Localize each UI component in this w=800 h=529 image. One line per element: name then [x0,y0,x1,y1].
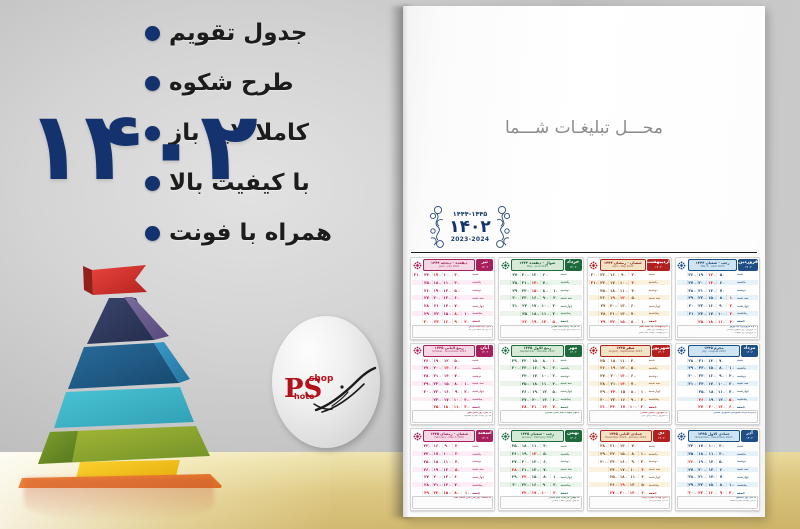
day-cell[interactable]: ۱۰۱۱ [540,490,550,495]
day-cell[interactable]: ۱۲۰ [550,358,560,363]
day-cell[interactable]: ۱۸۷ [530,381,540,386]
day-cell[interactable]: ۲۱۱۳ [432,373,442,378]
day-cell[interactable]: ۱۱۳۰ [540,381,550,386]
day-cell[interactable]: ۲۷۱ [422,474,432,479]
day-cell[interactable]: ۲۱۵ [726,373,736,378]
day-cell[interactable]: ۲۱۱۶ [697,474,707,479]
day-cell[interactable]: ۱۹۱۱ [432,358,442,363]
day-cell[interactable]: ۲۵۲ [520,311,530,316]
day-cell[interactable]: ۲۴۱۹ [687,443,697,448]
day-cell[interactable]: ۱۳۱۷ [442,474,452,479]
day-cell[interactable]: ۲۵۲۶ [510,443,520,448]
day-cell[interactable]: ۲۴۷ [697,381,707,386]
day-cell[interactable]: ۶۷ [716,280,726,285]
day-cell[interactable]: ۲۱۲۸ [520,280,530,285]
day-cell[interactable]: ۲۷۲۸ [687,280,697,285]
day-cell[interactable]: ۲۵۲۰ [687,451,697,456]
day-cell[interactable]: ۱۱۲۱ [442,280,452,285]
day-cell[interactable]: ۲۷۱۳ [598,373,608,378]
day-cell[interactable]: ۲۶۲۴ [608,482,618,487]
day-cell[interactable]: ۳۰۱۹ [510,365,520,370]
day-cell[interactable]: ۱۹۲ [706,397,716,402]
day-cell[interactable]: ۱۳۱۷ [618,303,628,308]
day-cell[interactable]: ۱۰۲ [452,397,462,402]
day-cell[interactable]: ۱۲۲۵ [716,397,726,402]
day-cell[interactable]: ۱۱۱۲ [530,443,540,448]
day-cell[interactable]: ۲۰۲۷ [520,272,530,277]
day-cell[interactable]: ۴۲۳ [550,381,560,386]
day-cell[interactable]: ۳۴ [726,311,736,316]
day-cell[interactable]: ۸۲۷ [540,358,550,363]
day-cell[interactable]: ۲۲۷ [726,490,736,495]
day-cell[interactable]: ۸۶ [628,451,638,456]
day-cell[interactable]: ۲۷۱۹ [422,365,432,370]
day-cell[interactable]: ۲۷۲۲ [687,467,697,472]
day-cell[interactable]: ۴۲۶ [461,404,471,409]
day-cell[interactable]: ۱۶۸ [442,389,452,394]
day-cell[interactable]: ۳۰۱۳ [687,373,697,378]
day-cell[interactable]: ۱۱۴ [726,365,736,370]
day-cell[interactable]: ۲۰۱۵ [697,467,707,472]
day-cell[interactable]: ۲۱۸ [638,397,648,402]
day-cell[interactable]: ۲۴۴ [422,272,432,277]
day-cell[interactable]: ۸۱۵ [540,288,550,293]
day-cell[interactable]: ۳۰۴ [589,272,599,277]
day-cell[interactable]: ۱۷۱۸ [530,490,540,495]
day-cell[interactable]: ۲۳۲۴ [520,482,530,487]
day-cell[interactable]: ۱۸ [550,288,560,293]
month-block-3[interactable]: خرداد۱۴۰۲شوال - ذیقعده ۱۴۴۴May - June 20… [498,257,583,340]
day-cell[interactable]: ۱۷۱۸ [706,311,716,316]
day-cell[interactable]: ۱۲ [550,474,560,479]
day-cell[interactable]: ۳۱۱۴ [687,381,697,386]
day-cell[interactable]: ۱۰۱۴ [442,451,452,456]
day-cell[interactable]: ۸۱۸ [452,311,462,316]
day-cell[interactable]: ۱۲۴ [442,358,452,363]
day-cell[interactable]: ۱۹۱۴ [697,459,707,464]
day-cell[interactable]: ۵۶ [716,272,726,277]
day-cell[interactable]: ۱۴۳ [540,404,550,409]
day-cell[interactable]: ۲۳ [550,482,560,487]
day-cell[interactable]: ۲۱۱۹ [608,443,618,448]
day-cell[interactable]: ۵۲۱ [628,365,638,370]
day-cell[interactable]: ۳۲۲ [550,373,560,378]
day-cell[interactable]: ۲۸۲۹ [687,288,697,293]
day-cell[interactable]: ۱۲۱۹ [540,319,550,324]
day-cell[interactable]: ۲۵۱۷ [432,404,442,409]
day-cell[interactable]: ۲۰۶ [608,373,618,378]
day-cell[interactable]: ۶۴ [638,490,648,495]
day-cell[interactable]: ۱۴۱۸ [442,482,452,487]
day-cell[interactable]: ۲۸۱۷ [520,404,530,409]
day-cell[interactable]: ۱۳۵ [442,365,452,370]
day-cell[interactable]: ۱۶۲۳ [530,295,540,300]
day-cell[interactable]: ۱۷۳۰ [706,381,716,386]
day-cell[interactable]: ۱۱۳ [452,404,462,409]
day-cell[interactable]: ۲۴۲۸ [422,451,432,456]
day-cell[interactable]: ۲۱۱ [432,303,442,308]
day-cell[interactable]: ۶۲۲ [628,373,638,378]
day-cell[interactable]: ۱۰۱۱ [716,311,726,316]
day-cell[interactable]: ۲۲۱ [550,365,560,370]
day-cell[interactable]: ۶۱۶ [452,295,462,300]
day-cell[interactable]: ۱۱۷ [638,389,648,394]
day-cell[interactable]: ۵۲۴ [550,389,560,394]
day-cell[interactable]: ۱۸۲۸ [432,280,442,285]
day-cell[interactable]: ۱۰۱۷ [540,303,550,308]
day-cell[interactable]: ۱۲۶ [726,482,736,487]
day-cell[interactable]: ۷۲۹ [452,373,462,378]
day-cell[interactable]: ۴۲ [638,474,648,479]
day-cell[interactable]: ۱۴۹ [706,474,716,479]
day-cell[interactable]: ۴۱۴ [452,280,462,285]
day-cell[interactable]: ۲۵۲۳ [608,474,618,479]
day-cell[interactable]: ۲۲۲۶ [608,319,618,324]
day-cell[interactable]: ۱۸۲۲ [608,288,618,293]
day-cell[interactable]: ۸۲۱ [716,365,726,370]
day-cell[interactable]: ۱۳۱۴ [530,459,540,464]
day-cell[interactable]: ۵۲۷ [452,358,462,363]
day-cell[interactable]: ۲۶۲۷ [510,451,520,456]
day-cell[interactable]: ۸۳ [716,482,726,487]
day-cell[interactable]: ۱۲۱۳ [706,272,716,277]
day-cell[interactable]: ۲۳۲۱ [608,459,618,464]
day-cell[interactable]: ۳۰۱۶ [598,397,608,402]
day-cell[interactable]: ۳۷ [452,451,462,456]
day-cell[interactable]: ۲۳۱۵ [432,389,442,394]
day-cell[interactable]: ۲۳۱۲ [520,365,530,370]
day-cell[interactable]: ۱۶۱۷ [706,303,716,308]
day-cell[interactable]: ۲۸۲۳ [687,474,697,479]
day-cell[interactable]: ۸۹ [540,474,550,479]
day-cell[interactable]: ۱۱۱۲ [716,319,726,324]
day-cell[interactable]: ۱۰۵ [706,443,716,448]
day-cell[interactable]: ۲۸۲ [422,482,432,487]
day-cell[interactable]: ۲۵۱۴ [520,381,530,386]
day-cell[interactable]: ۲۱۲۲ [520,467,530,472]
day-cell[interactable]: ۹۱۰ [540,482,550,487]
day-cell[interactable]: ۲۲۲۰ [608,451,618,456]
day-cell[interactable]: ۲۹۲۴ [687,482,697,487]
day-cell[interactable]: ۳۲۸ [716,443,726,448]
day-cell[interactable]: ۵۳ [638,482,648,487]
month-block-11[interactable]: بهمن۱۴۰۲رجب - شعبان ۱۴۴۵January - Februa… [498,428,583,511]
month-block-8[interactable]: آبان۱۴۰۲ربیع الثانی ۱۴۴۵October - Novemb… [410,343,495,426]
day-cell[interactable]: ۶۱۰ [452,474,462,479]
day-cell[interactable]: ۱۴۳۰ [618,381,628,386]
day-cell[interactable]: ۵۹ [628,295,638,300]
day-cell[interactable]: ۲۳۳ [432,319,442,324]
day-cell[interactable]: ۱۶۲۰ [432,443,442,448]
day-cell[interactable]: ۱۱۱۵ [618,288,628,293]
day-cell[interactable]: ۲۲۱۱ [520,358,530,363]
day-cell[interactable]: ۱۲ [726,295,736,300]
day-cell[interactable]: ۳۱۹ [638,404,648,409]
day-cell[interactable]: ۲۷۲۸ [510,459,520,464]
day-cell[interactable]: ۱۴۱۵ [706,288,716,293]
day-cell[interactable]: ۱۴۲۴ [442,303,452,308]
day-cell[interactable]: ۱۳۲۰ [530,272,540,277]
day-cell[interactable]: ۲۹۳۰ [510,474,520,479]
day-cell[interactable]: ۱۵۷ [442,381,452,386]
day-cell[interactable]: ۲۲۲۹ [520,288,530,293]
day-cell[interactable]: ۲۰۲۴ [608,303,618,308]
month-block-5[interactable]: مرداد۱۴۰۲محرم ۱۴۴۵July - August 2023شنبه… [675,343,760,426]
day-cell[interactable]: ۲۵۲۶ [697,319,707,324]
day-cell[interactable]: ۱۱۲۷ [618,358,628,363]
day-cell[interactable]: ۲۵۱۱ [598,358,608,363]
day-cell[interactable]: ۲۷۱۶ [520,397,530,402]
day-cell[interactable]: ۱۱۱۸ [540,311,550,316]
day-cell[interactable]: ۲۳۲۴ [697,303,707,308]
day-cell[interactable]: ۱۲۱۶ [442,467,452,472]
day-cell[interactable]: ۱۳۱۱ [628,490,638,495]
month-block-2[interactable]: اردیبهشت۱۴۰۲شعبان - رمضان ۱۴۴۴April - Ma… [587,257,672,340]
day-cell[interactable]: ۳۴ [550,490,560,495]
brand-logo-badge[interactable]: PS shop hoto [272,316,380,448]
day-cell[interactable]: ۲۶۹ [697,397,707,402]
day-cell[interactable]: ۱۷۲۴ [530,303,540,308]
day-cell[interactable]: ۲۰۱۲ [432,365,442,370]
day-cell[interactable]: ۲۱۲۵ [432,482,442,487]
day-cell[interactable]: ۱۱۶ [706,451,716,456]
day-cell[interactable]: ۶۱۹ [726,404,736,409]
day-cell[interactable]: ۱۳۲۶ [716,404,726,409]
day-cell[interactable]: ۱۲۳ [461,381,471,386]
month-block-9[interactable]: آذر۱۴۰۲جمادی الاول ۱۴۴۵November - Decemb… [675,428,760,511]
day-cell[interactable]: ۱۵۱۹ [618,319,628,324]
day-cell[interactable]: ۸۳۰ [452,381,462,386]
day-cell[interactable]: ۱۱۲۴ [716,389,726,394]
day-cell[interactable]: ۱۷۱۵ [618,467,628,472]
day-cell[interactable]: ۲۱۲۵ [608,311,618,316]
day-cell[interactable]: ۴۸ [452,459,462,464]
day-cell[interactable]: ۱۹۲۶ [530,319,540,324]
day-cell[interactable]: ۲۱۲ [461,319,471,324]
day-cell[interactable]: ۱۹۸ [530,389,540,394]
month-block-12[interactable]: اسفند۱۴۰۲شعبان - رمضان ۱۴۴۵February - Ma… [410,428,495,511]
day-cell[interactable]: ۲۷۱ [598,303,608,308]
day-cell[interactable]: ۲۹۹ [422,311,432,316]
day-cell[interactable]: ۲۰۲۱ [697,280,707,285]
day-cell[interactable]: ۱۴۶ [442,373,452,378]
day-cell[interactable]: ۲۹۲۷ [598,451,608,456]
day-cell[interactable]: ۱۸۱۰ [442,404,452,409]
day-cell[interactable]: ۲۱۷ [608,381,618,386]
day-cell[interactable]: ۹۱۳ [442,443,452,448]
day-cell[interactable]: ۱۶۲ [618,397,628,402]
day-cell[interactable]: ۸۱۲ [452,490,462,495]
day-cell[interactable]: ۵۱۵ [452,288,462,293]
day-cell[interactable]: ۲۹۳ [422,490,432,495]
day-cell[interactable]: ۱۶۱۱ [706,490,716,495]
day-cell[interactable]: ۲۰۲۴ [432,474,442,479]
day-cell[interactable]: ۲۲۱۴ [432,381,442,386]
month-block-10[interactable]: دی۱۴۰۲جمادی الثانی ۱۴۴۵December 2023 - J… [587,428,672,511]
day-cell[interactable]: ۵۳۰ [716,459,726,464]
day-cell[interactable]: ۱۵ [461,490,471,495]
day-cell[interactable]: ۷۱۱ [628,311,638,316]
day-cell[interactable]: ۲۴۲۵ [697,311,707,316]
day-cell[interactable]: ۲۸۲ [598,311,608,316]
day-cell[interactable]: ۲۲۱۷ [697,482,707,487]
day-cell[interactable]: ۱۷۳ [618,404,628,409]
day-cell[interactable]: ۲۳۲۷ [422,443,432,448]
day-cell[interactable]: ۲۸۱۱ [687,358,697,363]
day-cell[interactable]: ۱۶۲۶ [442,319,452,324]
day-cell[interactable]: ۹۴ [716,490,726,495]
day-cell[interactable]: ۱۸۱۹ [706,319,716,324]
day-cell[interactable]: ۷۸ [716,288,726,293]
day-cell[interactable]: ۷۵ [628,443,638,448]
day-cell[interactable]: ۱۱۹ [628,474,638,479]
day-cell[interactable]: ۱۶۲۰ [608,272,618,277]
day-cell[interactable]: ۵۱۲ [550,319,560,324]
day-cell[interactable]: ۱۰۲۹ [540,373,550,378]
day-cell[interactable]: ۹۱۳ [618,272,628,277]
day-cell[interactable]: ۵۹ [452,467,462,472]
day-cell[interactable]: ۲۱۴ [697,358,707,363]
day-cell[interactable]: ۲۲۲۳ [697,295,707,300]
day-cell[interactable]: ۶۲۵ [550,397,560,402]
day-cell[interactable]: ۲۶ [628,272,638,277]
day-cell[interactable]: ۱۰۱۴ [618,280,628,285]
day-cell[interactable]: ۲۴۲۲ [608,467,618,472]
day-cell[interactable]: ۱۹۲۰ [520,451,530,456]
day-cell[interactable]: ۱۸۴ [608,358,618,363]
day-cell[interactable]: ۳۰۲۵ [687,490,697,495]
day-cell[interactable]: ۱۵۲۲ [530,288,540,293]
day-cell[interactable]: ۹۲۲ [716,373,726,378]
day-cell[interactable]: ۱۵۴ [530,358,540,363]
day-cell[interactable]: ۱۸۲۵ [530,311,540,316]
day-cell[interactable]: ۱۲۹ [638,451,648,456]
day-cell[interactable]: ۱۲۱۰ [628,482,638,487]
day-cell[interactable]: ۲۴۱ [520,303,530,308]
calendar-poster[interactable]: محـــل تبلیغـات شـــما ۱۴۴۴-۱۴۴۵ ۱۴۰۲ 20… [403,6,765,517]
day-cell[interactable]: ۴۵ [540,443,550,448]
day-cell[interactable]: ۳۰۱ [687,303,697,308]
day-cell[interactable]: ۲۹۳۰ [687,295,697,300]
day-cell[interactable]: ۲۸۲۶ [598,443,608,448]
day-cell[interactable]: ۲۵۵ [422,280,432,285]
day-cell[interactable]: ۱۵۱۶ [530,474,540,479]
day-cell[interactable]: ۲۹۱۵ [598,389,608,394]
day-cell[interactable]: ۲۳۹ [608,397,618,402]
day-cell[interactable]: ۱۹۱۷ [618,482,628,487]
day-cell[interactable]: ۳۱۶ [726,381,736,386]
day-cell[interactable]: ۵۶ [540,451,550,456]
day-cell[interactable]: ۱۳۲ [540,397,550,402]
day-cell[interactable]: ۱۸۱۳ [697,451,707,456]
day-cell[interactable]: ۱۷۶ [530,373,540,378]
day-cell[interactable]: ۲۰۳۰ [432,295,442,300]
day-cell[interactable]: ۲۹۶ [510,288,520,293]
day-cell[interactable]: ۲۷۲۵ [608,490,618,495]
day-cell[interactable]: ۱۸۱۶ [618,474,628,479]
day-cell[interactable]: ۲۴۱۶ [432,397,442,402]
day-cell[interactable]: ۳۱۲ [687,311,697,316]
day-cell[interactable]: ۲۹۳ [598,319,608,324]
day-cell[interactable]: ۷۲ [716,474,726,479]
day-cell[interactable]: ۱۶۱۴ [618,459,628,464]
day-cell[interactable]: ۱۴۲۷ [706,358,716,363]
day-cell[interactable]: ۳۰۲۲ [422,389,432,394]
day-cell[interactable]: ۱۲۲۲ [442,288,452,293]
day-cell[interactable]: ۴۱۷ [726,389,736,394]
day-cell[interactable]: ۴۲۰ [628,358,638,363]
day-cell[interactable]: ۲۸۵ [510,280,520,285]
day-cell[interactable]: ۱۵۱ [618,389,628,394]
day-cell[interactable]: ۱۲۱ [540,389,550,394]
day-cell[interactable]: ۱۹۲۰ [697,272,707,277]
day-cell[interactable]: ۵۱۸ [726,397,736,402]
day-cell[interactable]: ۴۱۱ [550,311,560,316]
day-cell[interactable]: ۱۸۱۹ [520,443,530,448]
day-cell[interactable]: ۳۰۷ [510,295,520,300]
day-cell[interactable]: ۲۵۸ [697,389,707,394]
day-cell[interactable]: ۱۸۱ [706,389,716,394]
day-cell[interactable]: ۲۳ [726,303,736,308]
day-cell[interactable]: ۶۱۳ [540,272,550,277]
day-cell[interactable]: ۱۴۱۵ [530,467,540,472]
day-cell[interactable]: ۱۵۱۹ [442,490,452,495]
month-block-4[interactable]: تیر۱۴۰۲ذیقعده - ذیحجه ۱۴۴۴June - July 20… [410,257,495,340]
day-cell[interactable]: ۲۰۱۸ [618,490,628,495]
day-cell[interactable]: ۲۴۱۳ [520,373,530,378]
day-cell[interactable]: ۷۲۰ [716,358,726,363]
day-cell[interactable]: ۲۰۹ [530,397,540,402]
day-cell[interactable]: ۱۷۲۷ [432,272,442,277]
day-cell[interactable]: ۳۱۸ [510,303,520,308]
day-cell[interactable]: ۱۵۱۳ [618,451,628,456]
day-cell[interactable]: ۲۱۲۲ [697,288,707,293]
day-cell[interactable]: ۴۵ [726,319,736,324]
day-cell[interactable]: ۲۳۳۰ [520,295,530,300]
day-cell[interactable]: ۱۵۱۰ [706,482,716,487]
day-cell[interactable]: ۱۹۲۳ [608,295,618,300]
day-cell[interactable]: ۱۱۱۵ [442,459,452,464]
day-cell[interactable]: ۲۹ [550,295,560,300]
day-cell[interactable]: ۹۱۰ [716,303,726,308]
day-cell[interactable]: ۱۷۲۱ [608,280,618,285]
day-cell[interactable]: ۱۰۸ [628,467,638,472]
day-cell[interactable]: ۲۴۱۰ [608,404,618,409]
day-cell[interactable]: ۷۱۱ [452,482,462,487]
day-cell[interactable]: ۱۲۱۶ [618,295,628,300]
day-cell[interactable]: ۱۷۹ [442,397,452,402]
day-cell[interactable]: ۲۲۲ [432,311,442,316]
day-cell[interactable]: ۲۳۰ [638,459,648,464]
day-cell[interactable]: ۱۶۵ [530,365,540,370]
day-cell[interactable]: ۶۷ [540,459,550,464]
day-cell[interactable]: ۱۴۲۱ [530,280,540,285]
day-cell[interactable]: ۶۱۰ [628,303,638,308]
day-cell[interactable]: ۲۷۱۰ [697,404,707,409]
day-cell[interactable]: ۹۲۵ [628,397,638,402]
day-cell[interactable]: ۱۹۵ [608,365,618,370]
day-cell[interactable]: ۲۸۲۰ [422,373,432,378]
day-cell[interactable]: ۸۱۲ [628,319,638,324]
day-cell[interactable]: ۳۲۵ [461,397,471,402]
day-cell[interactable]: ۲۳۲۷ [598,272,608,277]
day-cell[interactable]: ۲۷۷ [422,295,432,300]
day-cell[interactable]: ۱۶۲۹ [706,373,716,378]
day-cell[interactable]: ۱۵۲۵ [442,311,452,316]
day-cell[interactable]: ۹۱۶ [540,295,550,300]
day-cell[interactable]: ۷۱۷ [452,303,462,308]
day-cell[interactable]: ۲۶۳۰ [598,295,608,300]
